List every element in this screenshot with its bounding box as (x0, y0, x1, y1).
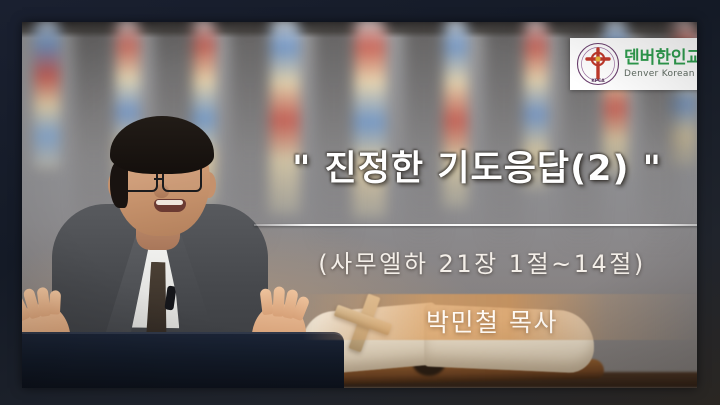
speaker-name: 박민철 목사 (322, 303, 662, 339)
title-divider (254, 224, 697, 226)
church-name-korean: 덴버한인교회 (624, 50, 697, 67)
speaker-figure (22, 22, 314, 388)
finger (260, 288, 274, 315)
finger (49, 290, 61, 315)
sermon-title: " 진정한 기도응답(2) " (232, 140, 697, 191)
broadcast-slide: " 진정한 기도응답(2) " (사무엘하 21장 1절~14절) 박민철 목사… (0, 0, 720, 405)
svg-text:KPCA: KPCA (591, 78, 605, 84)
church-logo-text: 덴버한인교회 Denver Korean Church (624, 50, 697, 79)
teeth (156, 200, 183, 205)
content-frame: " 진정한 기도응답(2) " (사무엘하 21장 1절~14절) 박민철 목사… (22, 22, 697, 388)
pulpit (22, 332, 344, 388)
kpca-emblem-icon: KPCA (576, 42, 620, 86)
church-logo: KPCA 덴버한인교회 Denver Korean Church (570, 38, 697, 90)
eyeglasses-bridge (154, 178, 164, 181)
church-name-english: Denver Korean Church (624, 70, 697, 79)
scripture-reference: (사무엘하 21장 1절~14절) (252, 244, 697, 279)
hair (110, 116, 214, 174)
